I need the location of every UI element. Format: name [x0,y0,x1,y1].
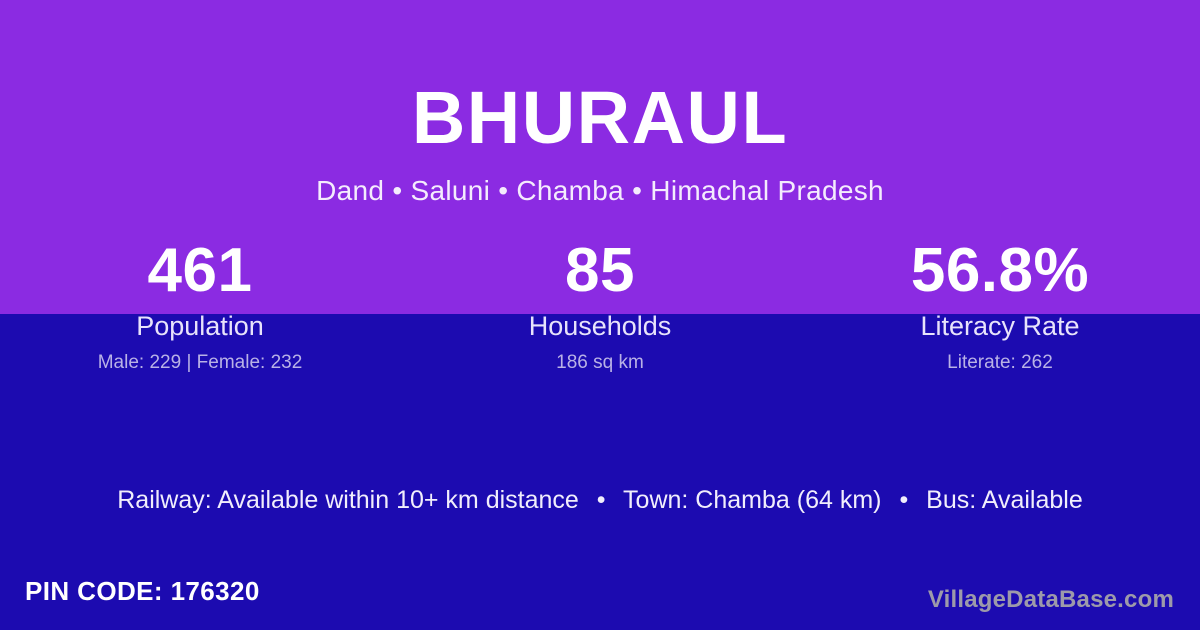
site-brand-watermark: VillageDataBase.com [928,585,1174,615]
stat-label-population: Population [0,310,400,342]
stat-literacy-rate: 56.8% Literacy Rate Literate: 262 [800,236,1200,374]
stat-sub-households: 186 sq km [400,351,800,374]
stat-value-literacy-rate: 56.8% [800,236,1200,306]
stat-value-households: 85 [400,236,800,306]
infrastructure-line: Railway: Available within 10+ km distanc… [0,484,1200,516]
pin-code-label: PIN CODE: 176320 [25,574,260,608]
stat-sub-population: Male: 229 | Female: 232 [0,351,400,374]
stat-value-population: 461 [0,236,400,306]
stat-households: 85 Households 186 sq km [400,236,800,374]
card-footer: PIN CODE: 176320 VillageDataBase.com [0,574,1200,630]
bullet-separator-icon: • [888,486,919,514]
stat-population: 461 Population Male: 229 | Female: 232 [0,236,400,374]
bullet-separator-icon: • [586,486,617,514]
breadcrumb: Dand • Saluni • Chamba • Himachal Prades… [0,155,1200,207]
infra-railway: Railway: Available within 10+ km distanc… [117,486,579,514]
stat-label-households: Households [400,310,800,342]
stat-sub-literacy-rate: Literate: 262 [800,351,1200,374]
card-header: BHURAUL Dand • Saluni • Chamba • Himacha… [0,0,1200,207]
infra-bus: Bus: Available [926,486,1083,514]
village-info-card: BHURAUL Dand • Saluni • Chamba • Himacha… [0,0,1200,630]
stats-row: 461 Population Male: 229 | Female: 232 8… [0,236,1200,374]
infra-town: Town: Chamba (64 km) [623,486,881,514]
page-title: BHURAUL [0,0,1200,155]
stat-label-literacy-rate: Literacy Rate [800,310,1200,342]
